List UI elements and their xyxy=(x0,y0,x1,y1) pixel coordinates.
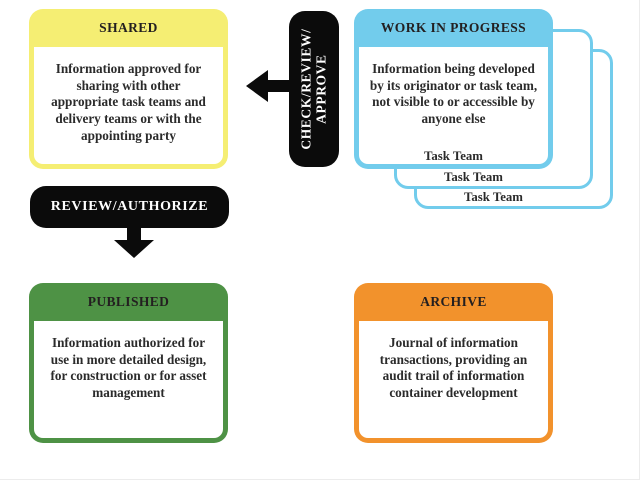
published-box: PUBLISHED Information authorized for use… xyxy=(29,283,228,443)
shared-body-text: Information approved for sharing with ot… xyxy=(34,47,223,164)
check-review-approve-label: CHECK/REVIEW/ APPROVE xyxy=(299,28,329,149)
archive-box: ARCHIVE Journal of information transacti… xyxy=(354,283,553,443)
shared-box: SHARED Information approved for sharing … xyxy=(29,9,228,169)
work-in-progress-body-text: Information being developed by its origi… xyxy=(359,47,548,164)
arrow-left-icon xyxy=(246,70,298,102)
arrow-down-icon xyxy=(114,222,154,258)
diagram-canvas: SHARED Information approved for sharing … xyxy=(0,0,640,480)
work-in-progress-header: WORK IN PROGRESS xyxy=(354,9,553,47)
archive-header: ARCHIVE xyxy=(354,283,553,321)
review-authorize-label: REVIEW/AUTHORIZE xyxy=(51,199,208,215)
task-team-label-3: Task Team xyxy=(394,190,593,205)
task-team-label-2: Task Team xyxy=(374,170,573,185)
task-team-label-1: Task Team xyxy=(354,149,553,164)
shared-header: SHARED xyxy=(29,9,228,47)
check-review-approve-line1: CHECK/REVIEW/ xyxy=(299,28,314,149)
published-body-text: Information authorized for use in more d… xyxy=(34,321,223,438)
work-in-progress-box: WORK IN PROGRESS Information being devel… xyxy=(354,9,553,169)
published-header: PUBLISHED xyxy=(29,283,228,321)
check-review-approve-line2: APPROVE xyxy=(314,54,329,123)
archive-body-text: Journal of information transactions, pro… xyxy=(359,321,548,438)
